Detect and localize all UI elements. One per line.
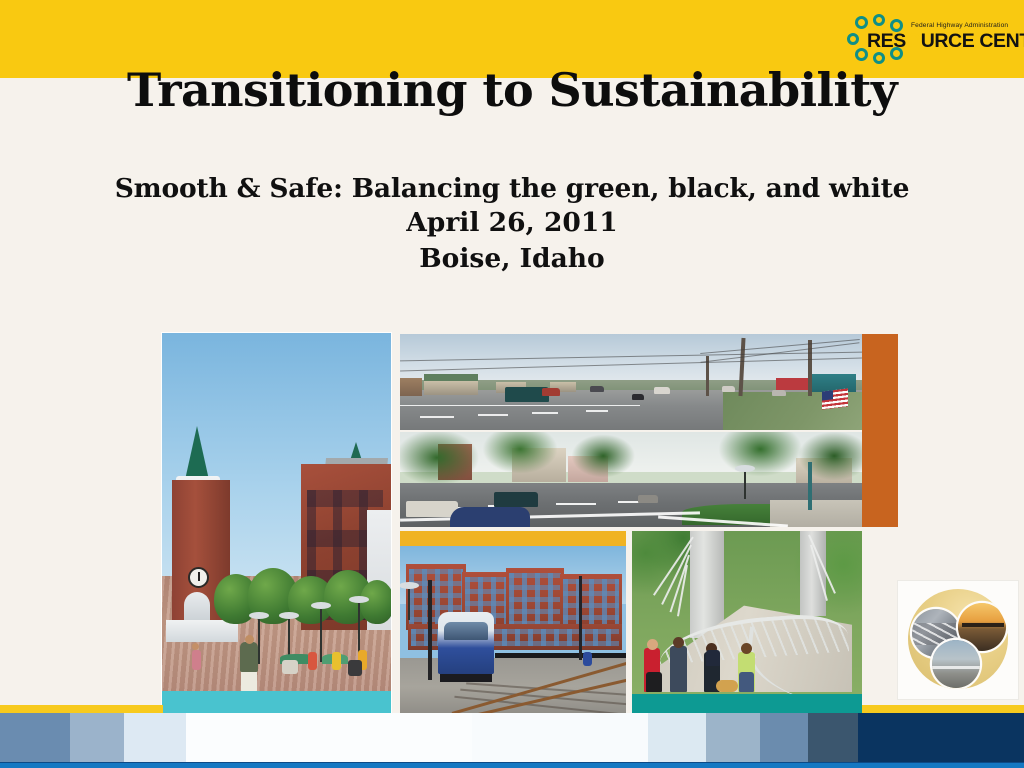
pedestrian-mall-photo [162, 333, 391, 716]
subtitle-theme: Smooth & Safe: Balancing the green, blac… [0, 173, 1024, 205]
sustainability-triad-logo [898, 581, 1018, 699]
footer-stripe-3 [186, 713, 472, 762]
shared-use-path-segment-icon [932, 640, 980, 688]
footer-stripe-0 [0, 713, 70, 762]
footer-stripe-8 [808, 713, 858, 762]
footer-stripe-2 [124, 713, 186, 762]
slide-title: Transitioning to Sustainability [0, 66, 1024, 114]
slide-subtitle-block: Smooth & Safe: Balancing the green, blac… [0, 173, 1024, 277]
footer-stripe-band [0, 713, 1024, 762]
footer-stripe-1 [70, 713, 124, 762]
footer-accent-line-right [862, 705, 1024, 713]
photo-collage [162, 333, 862, 716]
footer-rule [0, 762, 1024, 768]
complete-street-photo-accent-bar [862, 432, 898, 527]
logo-resource-center-text: RESOURCE CENTER [867, 30, 1024, 53]
footer-stripe-7 [760, 713, 808, 762]
subtitle-location: Boise, Idaho [0, 241, 1024, 277]
subtitle-date: April 26, 2011 [0, 205, 1024, 241]
suburban-arterial-photo [400, 334, 862, 430]
logo-urce-center-text: URCE CENTER [921, 30, 1024, 52]
logo-o-cutout: O [906, 30, 921, 52]
fhwa-resource-center-logo: Federal Highway Administration RESOURCE … [843, 10, 1018, 68]
footer-stripe-6 [706, 713, 760, 762]
logo-agency-text: Federal Highway Administration [911, 22, 1008, 29]
american-flag-icon [822, 388, 848, 409]
complete-street-photo [400, 432, 862, 527]
light-rail-photo [400, 546, 626, 716]
presentation-slide: Federal Highway Administration RESOURCE … [0, 0, 1024, 768]
light-rail-photo-accent-bar [400, 531, 626, 546]
footer-stripe-4 [472, 713, 648, 762]
footer-stripe-9 [858, 713, 1024, 762]
footer-stripe-5 [648, 713, 706, 762]
pedestrian-bridge-photo [632, 531, 862, 716]
logo-res-text: RES [867, 30, 906, 52]
footer-accent-line-left [0, 705, 163, 713]
